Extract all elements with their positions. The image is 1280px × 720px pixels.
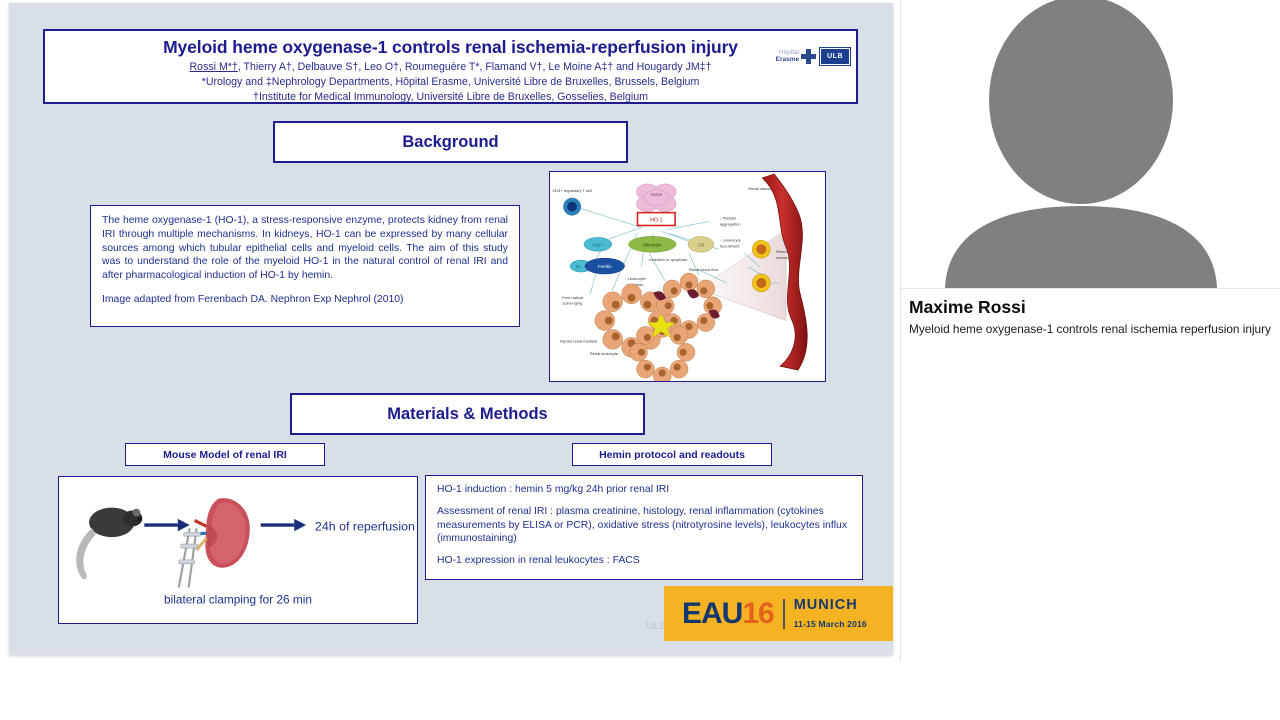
svg-text:Injured renal medulla: Injured renal medulla <box>560 338 598 343</box>
svg-text:↓ Platelet: ↓ Platelet <box>720 216 737 221</box>
hemin-line-1: HO-1 induction : hemin 5 mg/kg 24h prior… <box>437 483 851 497</box>
svg-text:24h of reperfusion: 24h of reperfusion <box>315 519 415 533</box>
svg-text:Biliverdin: Biliverdin <box>643 242 662 247</box>
eau-brand-text: EAU <box>682 597 742 631</box>
authors-line: Rossi M*†, Thierry A†, Delbauve S†, Leo … <box>45 60 856 75</box>
subsection-hemin-protocol: Hemin protocol and readouts <box>572 443 772 466</box>
presenter-talk-title: Myeloid heme oxygenase-1 controls renal … <box>909 322 1272 337</box>
hopital-erasme-logo: Hôpital Erasme <box>776 49 817 64</box>
svg-text:Fe: Fe <box>576 265 580 269</box>
poster-canvas[interactable]: Myeloid heme oxygenase-1 controls renal … <box>9 3 893 655</box>
erasme-logo-text: Hôpital Erasme <box>776 50 800 64</box>
presenter-panel: Maxime Rossi Myeloid heme oxygenase-1 co… <box>901 0 1280 720</box>
svg-text:Fe2+: Fe2+ <box>593 242 603 247</box>
svg-text:Renal leukocyte: Renal leukocyte <box>590 351 619 356</box>
svg-text:Heme: Heme <box>651 192 663 197</box>
svg-text:Renal blood flow: Renal blood flow <box>689 267 718 272</box>
background-paragraph: The heme oxygenase-1 (HO-1), a stress-re… <box>102 214 508 283</box>
medical-cross-icon <box>801 49 816 64</box>
hemin-line-3: HO-1 expression in renal leukocytes : FA… <box>437 554 851 568</box>
eau-logo-divider <box>783 599 785 629</box>
eau-year-text: 16 <box>742 597 773 631</box>
svg-text:bilateral clamping for 26 min: bilateral clamping for 26 min <box>164 592 312 606</box>
svg-text:scavenging: scavenging <box>562 301 582 306</box>
presenter-name: Maxime Rossi <box>909 296 1272 319</box>
svg-text:recruitment: recruitment <box>720 243 741 248</box>
institution-logos: Hôpital Erasme ULB <box>776 48 850 65</box>
svg-text:↓ Leukocyte: ↓ Leukocyte <box>625 276 647 281</box>
svg-text:CO: CO <box>698 242 705 247</box>
svg-text:aggregation: aggregation <box>720 221 741 226</box>
hemin-line-2: Assessment of renal IRI : plasma creatin… <box>437 505 851 546</box>
mouse-model-figure: 24h of reperfusion bilateral clamping fo… <box>58 476 418 624</box>
eau-dates-text: 11-15 March 2016 <box>794 619 867 629</box>
authors-remaining: , Thierry A†, Delbauve S†, Leo O†, Roume… <box>238 61 712 73</box>
svg-text:inhibition of apoptosis: inhibition of apoptosis <box>649 257 687 262</box>
svg-text:↓ Leukocyte: ↓ Leukocyte <box>720 237 742 242</box>
affiliation-line-2: †Institute for Medical Immunology, Unive… <box>45 90 856 105</box>
erasme-logo-line2: Erasme <box>776 57 800 64</box>
section-header-background: Background <box>273 121 628 163</box>
eau-location-block: MUNICH 11-15 March 2016 <box>794 596 867 632</box>
authors-presenting: Rossi M*† <box>190 61 238 73</box>
background-text-box: The heme oxygenase-1 (HO-1), a stress-re… <box>90 205 520 327</box>
poster-title-block: Myeloid heme oxygenase-1 controls renal … <box>43 29 858 104</box>
page-title: Myeloid heme oxygenase-1 controls renal … <box>45 36 856 60</box>
svg-text:Free radical: Free radical <box>562 295 583 300</box>
ulb-logo: ULB <box>820 48 850 65</box>
background-mechanism-figure: Heme HO-1 CD4+ regulatory T cell Fe2+ Fe… <box>549 171 826 382</box>
svg-text:HO-1: HO-1 <box>650 218 662 224</box>
presenter-video[interactable] <box>901 0 1280 289</box>
hemin-protocol-panel: HO-1 induction : hemin 5 mg/kg 24h prior… <box>425 475 863 580</box>
eau-city-text: MUNICH <box>794 597 858 613</box>
eau16-conference-logo: EAU 16 MUNICH 11-15 March 2016 <box>664 586 893 641</box>
background-image-credit: Image adapted from Ferenbach DA. Nephron… <box>102 293 508 307</box>
svg-text:Ferritin: Ferritin <box>598 264 612 269</box>
presenter-info: Maxime Rossi Myeloid heme oxygenase-1 co… <box>901 292 1280 337</box>
svg-text:CD4+ regulatory T cell: CD4+ regulatory T cell <box>552 188 591 193</box>
poster-viewer[interactable]: Myeloid heme oxygenase-1 controls renal … <box>0 0 901 662</box>
section-header-materials-methods: Materials & Methods <box>290 393 645 435</box>
affiliation-line-1: *Urology and ‡Nephrology Departments, Hô… <box>45 75 856 90</box>
subsection-mouse-model: Mouse Model of renal IRI <box>125 443 325 466</box>
